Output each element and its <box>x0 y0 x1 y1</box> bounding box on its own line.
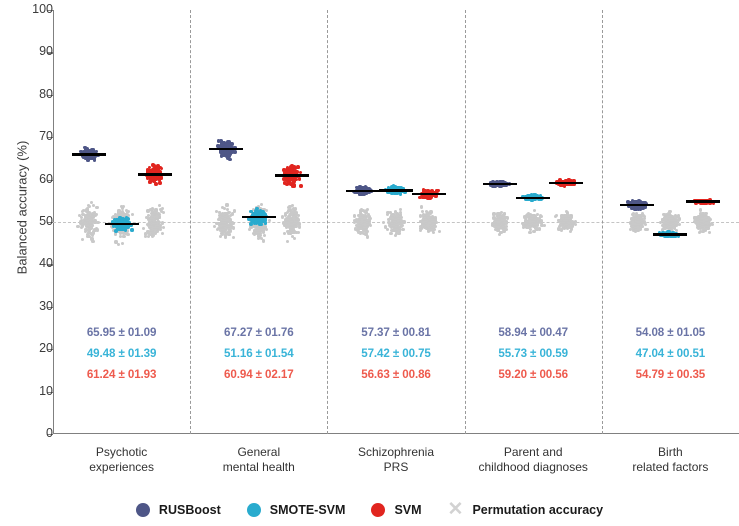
median-line <box>620 204 654 206</box>
scatter-point <box>663 217 666 220</box>
scatter-point <box>114 240 117 243</box>
scatter-point <box>262 239 265 242</box>
scatter-point <box>711 223 714 226</box>
scatter-point <box>394 228 397 231</box>
median-line <box>412 193 446 195</box>
scatter-point <box>263 234 266 237</box>
circle-icon <box>136 503 150 517</box>
scatter-point <box>126 233 129 236</box>
scatter-point <box>438 230 441 233</box>
scatter-point <box>286 218 289 221</box>
x-axis-label-line1: Psychotic <box>47 445 197 460</box>
scatter-point <box>382 221 385 224</box>
scatter-point <box>86 159 90 163</box>
legend-item[interactable]: RUSBoost <box>136 503 221 517</box>
scatter-point <box>162 226 165 229</box>
median-line <box>653 233 687 235</box>
median-line <box>483 183 517 185</box>
x-axis-label-line2: PRS <box>321 460 471 475</box>
scatter-point <box>94 229 97 232</box>
y-axis-tick-label: 0 <box>13 427 53 439</box>
scatter-point <box>228 158 232 162</box>
x-axis-label-line1: General <box>184 445 334 460</box>
scatter-point <box>295 170 299 174</box>
stat-value-rusboost: 58.94 ± 00.47 <box>458 322 608 343</box>
legend-item[interactable]: SMOTE-SVM <box>247 503 346 517</box>
legend-label: SMOTE-SVM <box>270 503 346 517</box>
scatter-point <box>85 147 89 151</box>
stat-value-smote-svm: 47.04 ± 00.51 <box>595 343 739 364</box>
scatter-point <box>260 237 263 240</box>
scatter-point <box>425 210 428 213</box>
scatter-point <box>296 165 300 169</box>
x-axis-label-line2: related factors <box>595 460 739 475</box>
scatter-point <box>634 208 638 212</box>
median-line <box>346 190 380 192</box>
scatter-point <box>86 235 89 238</box>
scatter-point <box>86 219 89 222</box>
scatter-point <box>645 228 648 231</box>
group-stats: 67.27 ± 01.7651.16 ± 01.5460.94 ± 02.17 <box>184 322 334 385</box>
scatter-point <box>505 225 508 228</box>
scatter-point <box>704 227 707 230</box>
scatter-point <box>389 232 392 235</box>
scatter-point <box>356 221 359 224</box>
scatter-point <box>83 222 86 225</box>
scatter-point <box>155 215 158 218</box>
x-axis-label-line2: experiences <box>47 460 197 475</box>
scatter-point <box>290 211 293 214</box>
x-axis-label-line1: Schizophrenia <box>321 445 471 460</box>
scatter-point <box>361 209 364 212</box>
scatter-point <box>248 228 251 231</box>
stat-value-svm: 54.79 ± 00.35 <box>595 364 739 385</box>
scatter-point <box>258 222 262 226</box>
stat-value-smote-svm: 51.16 ± 01.54 <box>184 343 334 364</box>
scatter-point <box>662 227 665 230</box>
legend-label: RUSBoost <box>159 503 221 517</box>
scatter-point <box>496 212 499 215</box>
scatter-point <box>659 221 662 224</box>
scatter-point <box>122 225 126 229</box>
y-axis-title: Balanced accuracy (%) <box>15 98 30 318</box>
scatter-point <box>299 184 303 188</box>
scatter-point <box>268 219 271 222</box>
median-line <box>379 189 413 191</box>
scatter-point <box>92 204 95 207</box>
group-stats: 57.37 ± 00.8157.42 ± 00.7556.63 ± 00.86 <box>321 322 471 385</box>
scatter-point <box>226 143 230 147</box>
scatter-point <box>535 227 538 230</box>
median-line <box>516 197 550 199</box>
stat-value-smote-svm: 49.48 ± 01.39 <box>47 343 197 364</box>
scatter-point <box>566 217 569 220</box>
scatter-point <box>292 217 295 220</box>
scatter-point <box>125 217 129 221</box>
scatter-point <box>283 232 286 235</box>
x-axis-label-line2: mental health <box>184 460 334 475</box>
scatter-point <box>253 233 256 236</box>
x-axis-label: SchizophreniaPRS <box>321 445 471 475</box>
scatter-point <box>116 218 120 222</box>
legend-item[interactable]: SVM <box>371 503 421 517</box>
x-axis-label: Psychoticexperiences <box>47 445 197 475</box>
chart-legend: RUSBoostSMOTE-SVMSVM✕Permutation accurac… <box>0 494 739 526</box>
scatter-point <box>224 235 227 238</box>
scatter-point <box>81 238 84 241</box>
group-stats: 54.08 ± 01.0547.04 ± 00.5154.79 ± 00.35 <box>595 322 739 385</box>
group-stats: 65.95 ± 01.0949.48 ± 01.3961.24 ± 01.93 <box>47 322 197 385</box>
scatter-point <box>262 230 265 233</box>
group-stats: 58.94 ± 00.4755.73 ± 00.5959.20 ± 00.56 <box>458 322 608 385</box>
stat-value-svm: 59.20 ± 00.56 <box>458 364 608 385</box>
scatter-point <box>701 223 704 226</box>
scatter-point <box>213 225 216 228</box>
scatter-point <box>569 230 572 233</box>
scatter-point <box>232 236 235 239</box>
scatter-point <box>156 167 160 171</box>
scatter-point <box>142 227 145 230</box>
scatter-point <box>124 213 127 216</box>
scatter-point <box>131 213 134 216</box>
scatter-point <box>499 215 502 218</box>
scatter-point <box>528 231 531 234</box>
scatter-point <box>394 234 397 237</box>
scatter-point <box>363 226 366 229</box>
scatter-point <box>353 214 356 217</box>
scatter-point <box>707 227 710 230</box>
chart-figure: 1009080706050403020100 Balanced accuracy… <box>0 0 739 526</box>
scatter-point <box>130 228 134 232</box>
scatter-point <box>570 215 573 218</box>
legend-item[interactable]: ✕Permutation accuracy <box>448 503 604 517</box>
x-axis-label-line2: childhood diagnoses <box>458 460 608 475</box>
scatter-point <box>526 220 529 223</box>
x-axis-label: Parent andchildhood diagnoses <box>458 445 608 475</box>
scatter-point <box>359 227 362 230</box>
scatter-point <box>298 225 301 228</box>
scatter-point <box>159 208 162 211</box>
scatter-point <box>293 237 296 240</box>
scatter-point <box>501 218 504 221</box>
scatter-point <box>677 214 680 217</box>
y-axis-tick-label: 10 <box>13 385 53 397</box>
x-axis-label-line1: Parent and <box>458 445 608 460</box>
scatter-point <box>419 227 422 230</box>
scatter-point <box>574 223 577 226</box>
scatter-point <box>297 214 300 217</box>
scatter-point <box>117 243 120 246</box>
scatter-point <box>357 214 360 217</box>
cross-icon: ✕ <box>448 503 464 517</box>
scatter-point <box>632 229 635 232</box>
scatter-point <box>147 218 150 221</box>
stat-value-rusboost: 65.95 ± 01.09 <box>47 322 197 343</box>
scatter-point <box>250 218 254 222</box>
stat-value-rusboost: 54.08 ± 01.05 <box>595 322 739 343</box>
scatter-point <box>156 230 159 233</box>
scatter-point <box>695 221 698 224</box>
legend-label: SVM <box>394 503 421 517</box>
scatter-point <box>95 213 98 216</box>
scatter-point <box>395 214 398 217</box>
scatter-point <box>283 170 287 174</box>
x-axis-label: Birthrelated factors <box>595 445 739 475</box>
scatter-point <box>121 242 124 245</box>
stat-value-rusboost: 57.37 ± 00.81 <box>321 322 471 343</box>
scatter-point <box>95 206 98 209</box>
stat-value-svm: 61.24 ± 01.93 <box>47 364 197 385</box>
stat-value-smote-svm: 57.42 ± 00.75 <box>321 343 471 364</box>
scatter-point <box>285 224 288 227</box>
scatter-point <box>233 150 237 154</box>
stat-value-rusboost: 67.27 ± 01.76 <box>184 322 334 343</box>
scatter-point <box>571 224 574 227</box>
circle-icon <box>371 503 385 517</box>
median-line <box>105 223 139 225</box>
scatter-point <box>146 176 150 180</box>
legend-label: Permutation accuracy <box>472 503 603 517</box>
scatter-point <box>296 218 299 221</box>
scatter-point <box>288 177 292 181</box>
scatter-point <box>298 177 302 181</box>
scatter-point <box>260 203 263 206</box>
scatter-point <box>635 212 638 215</box>
scatter-point <box>286 240 289 243</box>
median-line <box>72 153 106 155</box>
scatter-point <box>527 225 530 228</box>
scatter-point <box>538 217 541 220</box>
scatter-point <box>359 231 362 234</box>
scatter-point <box>161 232 164 235</box>
x-axis-label: Generalmental health <box>184 445 334 475</box>
scatter-point <box>366 208 369 211</box>
scatter-point <box>221 206 224 209</box>
median-line <box>686 200 720 202</box>
scatter-point <box>151 208 154 211</box>
median-line <box>275 174 309 176</box>
median-line <box>549 182 583 184</box>
scatter-point <box>257 231 260 234</box>
median-line <box>138 173 172 175</box>
scatter-point <box>497 229 500 232</box>
scatter-point <box>290 226 293 229</box>
scatter-point <box>231 222 234 225</box>
scatter-point <box>90 237 93 240</box>
y-axis-tick-label: 100 <box>13 3 53 15</box>
scatter-point <box>420 205 423 208</box>
scatter-point <box>503 212 506 215</box>
scatter-point <box>293 222 296 225</box>
scatter-point <box>426 214 429 217</box>
scatter-point <box>76 225 79 228</box>
scatter-point <box>293 167 297 171</box>
scatter-point <box>708 231 711 234</box>
stat-value-svm: 56.63 ± 00.86 <box>321 364 471 385</box>
scatter-point <box>555 214 558 217</box>
circle-icon <box>247 503 261 517</box>
x-axis-label-line1: Birth <box>595 445 739 460</box>
scatter-point <box>152 219 155 222</box>
scatter-point <box>557 227 560 230</box>
y-axis-tick-label: 90 <box>13 45 53 57</box>
scatter-point <box>231 212 234 215</box>
scatter-point <box>638 227 641 230</box>
median-line <box>209 148 243 150</box>
scatter-point <box>363 223 366 226</box>
scatter-point <box>366 235 369 238</box>
scatter-point <box>384 225 387 228</box>
scatter-point <box>505 221 508 224</box>
scatter-point <box>426 224 429 227</box>
scatter-point <box>122 235 125 238</box>
stat-value-svm: 60.94 ± 02.17 <box>184 364 334 385</box>
scatter-point <box>565 223 568 226</box>
scatter-point <box>636 223 639 226</box>
scatter-point <box>498 233 501 236</box>
stat-value-smote-svm: 55.73 ± 00.59 <box>458 343 608 364</box>
scatter-point <box>643 206 647 210</box>
scatter-point <box>364 214 367 217</box>
scatter-point <box>158 181 162 185</box>
scatter-point <box>226 218 229 221</box>
scatter-point <box>543 224 546 227</box>
scatter-point <box>533 209 536 212</box>
median-line <box>242 216 276 218</box>
scatter-point <box>362 229 365 232</box>
scatter-point <box>222 224 225 227</box>
